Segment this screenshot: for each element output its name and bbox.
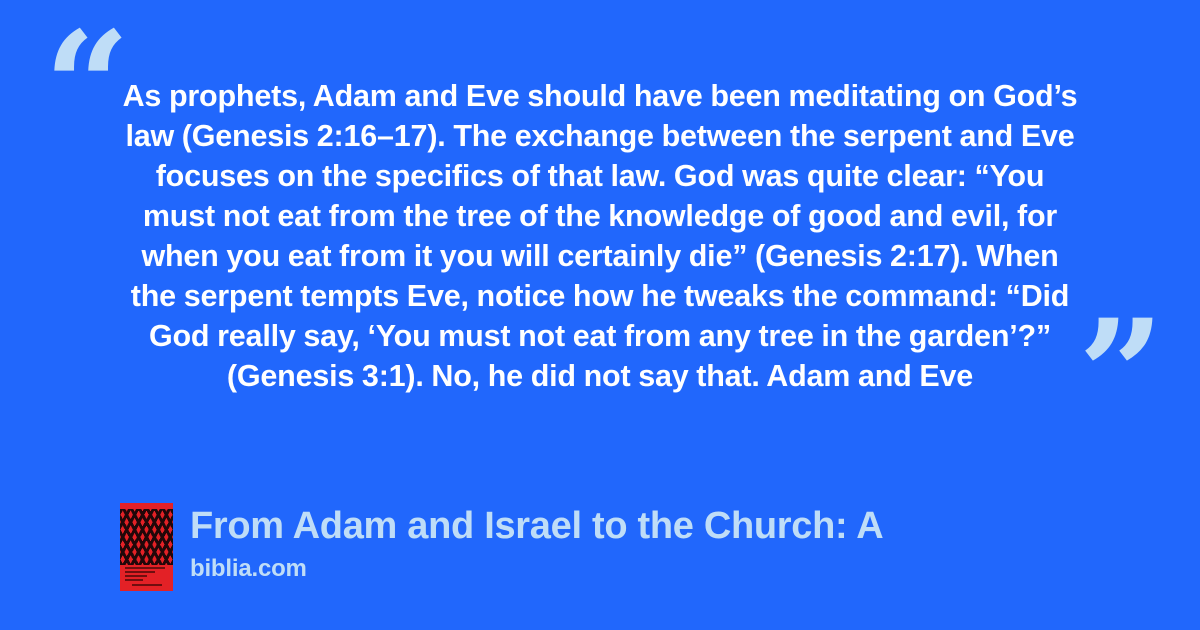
book-cover-thumbnail xyxy=(120,503,173,591)
footer-text-group: From Adam and Israel to the Church: A bi… xyxy=(190,503,883,584)
book-cover-text-line xyxy=(125,567,165,569)
book-cover-text-line xyxy=(125,575,147,577)
quote-line: (Genesis 3:1). No, he did not say that. … xyxy=(108,356,1092,396)
source-domain: biblia.com xyxy=(190,554,883,584)
book-title: From Adam and Israel to the Church: A xyxy=(190,503,883,549)
quote-line: focuses on the specifics of that law. Go… xyxy=(108,156,1092,196)
quote-line: must not eat from the tree of the knowle… xyxy=(108,196,1092,236)
quote-line: when you eat from it you will certainly … xyxy=(108,236,1092,276)
book-cover-text-line xyxy=(125,579,143,581)
quote-line: As prophets, Adam and Eve should have be… xyxy=(108,76,1092,116)
quote-card: “ As prophets, Adam and Eve should have … xyxy=(0,0,1200,630)
book-cover-author-line xyxy=(132,584,162,586)
quote-line: God really say, ‘You must not eat from a… xyxy=(108,316,1092,356)
quote-line: law (Genesis 2:16–17). The exchange betw… xyxy=(108,116,1092,156)
closing-quote-icon: ” xyxy=(1078,300,1162,450)
book-cover-title-lines xyxy=(125,567,165,583)
footer: From Adam and Israel to the Church: A bi… xyxy=(120,503,883,591)
quote-text: As prophets, Adam and Eve should have be… xyxy=(108,76,1092,396)
book-cover-text-line xyxy=(125,571,155,573)
book-cover-pattern xyxy=(120,509,173,565)
quote-line: the serpent tempts Eve, notice how he tw… xyxy=(108,276,1092,316)
